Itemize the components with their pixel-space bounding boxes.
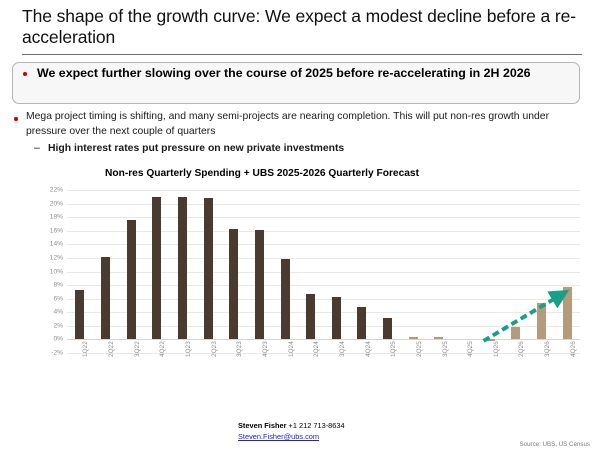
- callout-text: We expect further slowing over the cours…: [37, 65, 569, 81]
- bullet-dot-icon: [14, 117, 18, 121]
- y-axis-tick-label: 2%: [53, 322, 63, 329]
- y-axis-tick-label: 6%: [53, 295, 63, 302]
- footer-contact: Steven Fisher +1 212 713-8634 Steven.Fis…: [238, 420, 345, 442]
- page-title: The shape of the growth curve: We expect…: [22, 6, 582, 49]
- source-note: Source: UBS, US Census: [520, 441, 591, 448]
- bullet-level-2-text: Mega project timing is shifting, and man…: [26, 110, 580, 140]
- y-axis-tick-label: 8%: [53, 282, 63, 289]
- y-axis-tick-label: 20%: [50, 200, 63, 207]
- y-axis-tick-label: 0%: [53, 336, 63, 343]
- re-acceleration-arrow-icon: [67, 190, 580, 370]
- y-axis-tick-label: 10%: [50, 268, 63, 275]
- chart: Non-res Quarterly Spending + UBS 2025-20…: [22, 168, 584, 400]
- chart-title: Non-res Quarterly Spending + UBS 2025-20…: [22, 168, 502, 179]
- y-axis-tick-label: -2%: [51, 350, 63, 357]
- bullet-level-3-text: High interest rates put pressure on new …: [48, 142, 574, 157]
- y-axis-tick-label: 12%: [50, 254, 63, 261]
- slide: The shape of the growth curve: We expect…: [0, 0, 604, 457]
- y-axis-tick-label: 16%: [50, 227, 63, 234]
- y-axis-tick-label: 14%: [50, 241, 63, 248]
- chart-y-axis: 22%20%18%16%14%12%10%8%6%4%2%0%-2%: [22, 190, 63, 353]
- title-divider: [22, 54, 582, 55]
- y-axis-tick-label: 18%: [50, 214, 63, 221]
- callout-box: We expect further slowing over the cours…: [12, 62, 580, 104]
- bullet-dot-icon: [23, 72, 27, 76]
- analyst-phone: +1 212 713-8634: [289, 421, 345, 430]
- y-axis-tick-label: 4%: [53, 309, 63, 316]
- dash-marker-icon: –: [34, 142, 40, 154]
- y-axis-tick-label: 22%: [50, 187, 63, 194]
- analyst-email-link[interactable]: Steven.Fisher@ubs.com: [238, 431, 345, 442]
- analyst-name: Steven Fisher: [238, 421, 286, 430]
